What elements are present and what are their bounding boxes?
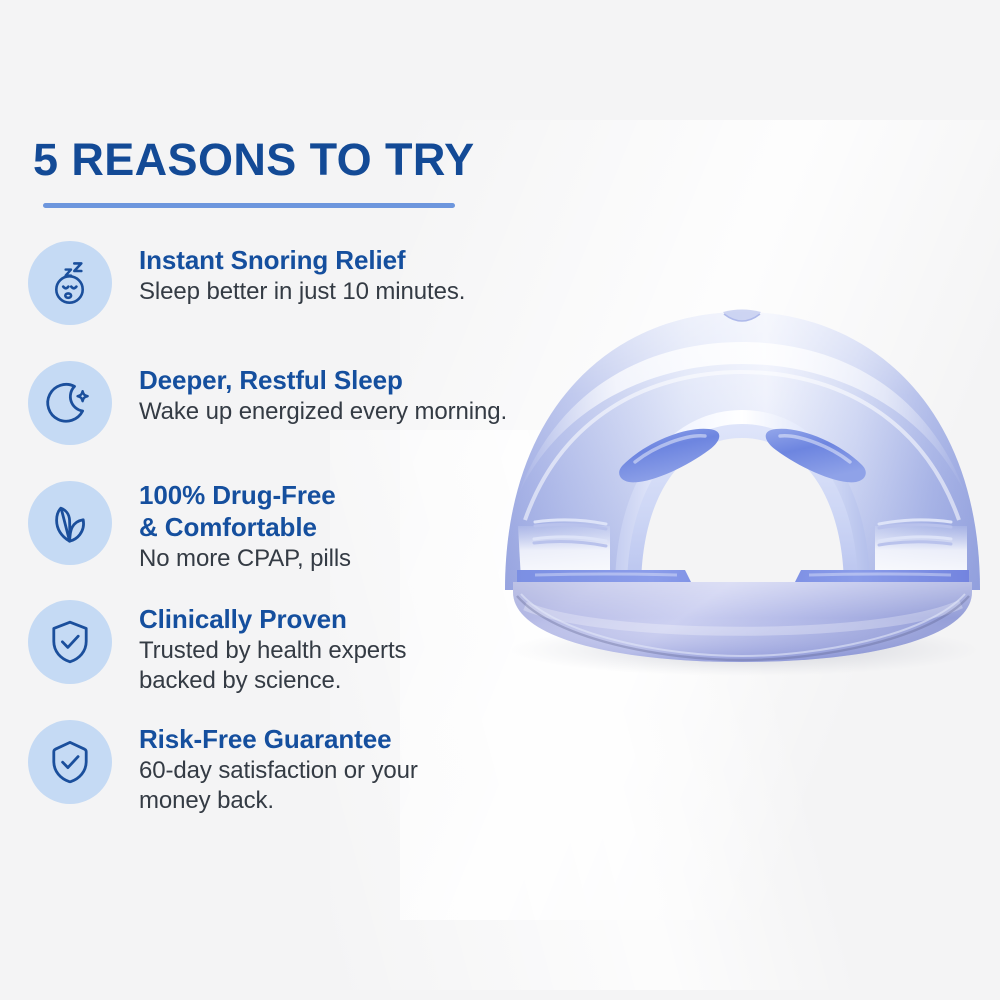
feature-icon-badge [28,481,112,565]
feature-icon-badge [28,600,112,684]
shield-check-rounded-icon [44,736,96,788]
feature-icon-badge [28,241,112,325]
crescent-moon-sparkle-icon [44,377,96,429]
title-underline-rule [43,203,455,208]
page-title: 5 REASONS TO TRY [33,134,474,186]
sleeping-face-zz-icon [44,257,96,309]
feature-title: Risk-Free Guarantee [139,723,559,755]
shield-check-icon [44,616,96,668]
infographic-page: 5 REASONS TO TRY Instant Snoring [0,0,1000,1000]
product-image [495,290,990,680]
leaf-icon [44,497,96,549]
feature-icon-badge [28,720,112,804]
feature-icon-badge [28,361,112,445]
feature-text-block: Risk-Free Guarantee 60-day satisfaction … [139,723,559,816]
feature-description: 60-day satisfaction or your money back. [139,756,559,816]
feature-title: Instant Snoring Relief [139,244,559,276]
